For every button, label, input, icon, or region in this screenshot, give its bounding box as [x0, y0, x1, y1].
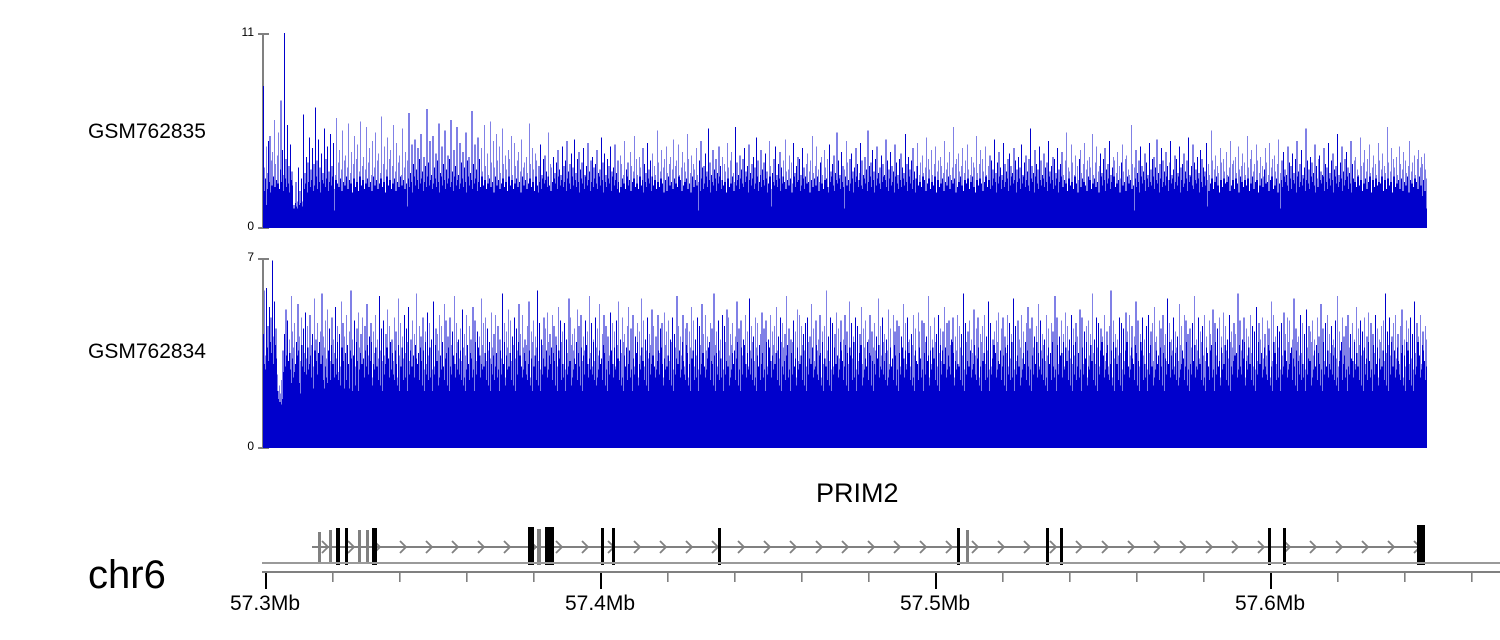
ruler-tick-label: 57.6Mb — [1235, 592, 1305, 616]
ruler-tick-label: 57.3Mb — [230, 592, 300, 616]
axis-min-label-1: 0 — [214, 439, 254, 453]
track-label-1: GSM762834 — [88, 340, 206, 364]
ruler-tick-label: 57.4Mb — [565, 592, 635, 616]
signal-track-1: GSM762834 7 0 — [0, 0, 1500, 460]
ruler-tick-label: 57.5Mb — [900, 592, 970, 616]
axis-max-label-1: 7 — [214, 250, 254, 264]
signal-plot-1[interactable] — [263, 258, 1427, 448]
genomic-ruler[interactable] — [0, 565, 1500, 595]
gene-model-track[interactable] — [0, 505, 1500, 565]
genome-browser-view: GSM762835 11 0 GSM762834 7 0 PRIM2 chr6 … — [0, 0, 1500, 640]
ruler-tick-labels: 57.3Mb57.4Mb57.5Mb57.6Mb — [0, 592, 1500, 624]
